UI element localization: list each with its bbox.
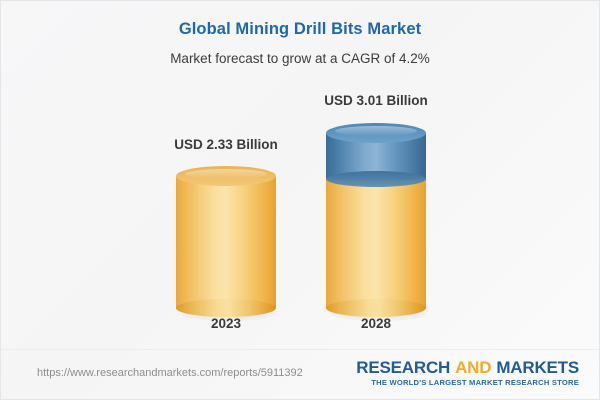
source-url-link[interactable]: https://www.researchandmarkets.com/repor… xyxy=(37,367,303,379)
logo-wordmark: RESEARCHANDMARKETS xyxy=(356,359,579,377)
chart-card: Global Mining Drill Bits Market Market f… xyxy=(0,0,600,400)
research-and-markets-logo[interactable]: RESEARCHANDMARKETS THE WORLD'S LARGEST M… xyxy=(356,359,579,387)
cylinder-bottom-2028 xyxy=(326,299,426,317)
cylinder-segment-base-2028 xyxy=(326,176,426,308)
logo-word-markets: MARKETS xyxy=(496,358,579,377)
footer: https://www.researchandmarkets.com/repor… xyxy=(1,350,599,399)
cylinder-top-cap-2023 xyxy=(176,166,276,186)
cylinder-bar-2023[interactable] xyxy=(176,166,276,308)
cylinder-segment-seam xyxy=(326,171,426,187)
logo-word-research: RESEARCH xyxy=(356,358,450,377)
category-label-2028: 2028 xyxy=(296,316,456,331)
chart-plot-area: USD 2.33 Billion 2023 USD 3.01 Billion xyxy=(1,71,600,346)
logo-word-and: AND xyxy=(455,358,491,377)
cylinder-segment-base-2023 xyxy=(176,176,276,308)
category-label-2023: 2023 xyxy=(146,316,306,331)
chart-subtitle: Market forecast to grow at a CAGR of 4.2… xyxy=(1,51,599,66)
cylinder-bar-2028[interactable] xyxy=(326,123,426,308)
page-title: Global Mining Drill Bits Market xyxy=(1,20,599,39)
logo-tagline: THE WORLD'S LARGEST MARKET RESEARCH STOR… xyxy=(356,378,579,387)
cylinder-top-cap-2028 xyxy=(326,123,426,143)
value-label-2028: USD 3.01 Billion xyxy=(296,93,456,108)
value-label-2023: USD 2.33 Billion xyxy=(146,137,306,152)
cylinder-bottom-2023 xyxy=(176,299,276,317)
